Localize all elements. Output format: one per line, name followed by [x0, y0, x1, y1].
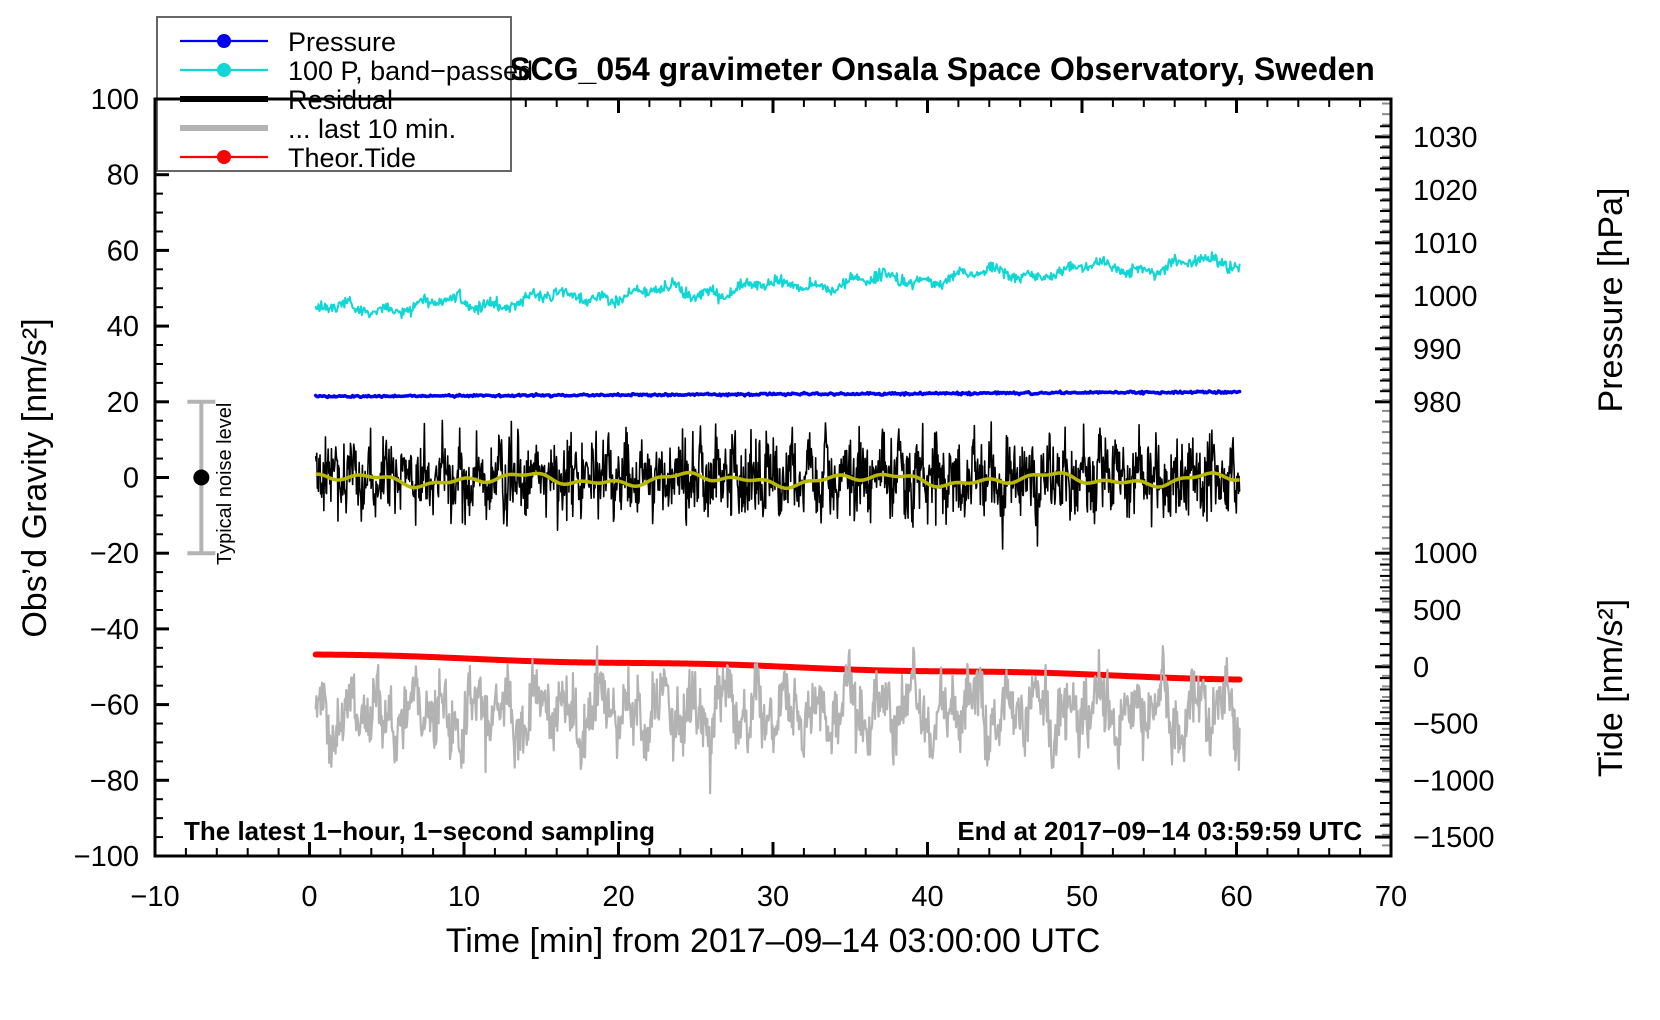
- chart-figure: SCG_054 gravimeter Onsala Space Observat…: [0, 0, 1660, 1020]
- legend-label-4: Theor.Tide: [288, 143, 416, 173]
- x-tick-label: 10: [448, 881, 480, 913]
- x-tick-label: 20: [602, 881, 634, 913]
- x-tick-label: 0: [301, 881, 317, 913]
- legend-label-3: ... last 10 min.: [288, 114, 456, 144]
- x-tick-label: 30: [757, 881, 789, 913]
- y-tick-label: 100: [91, 84, 139, 116]
- right-tide-tick-label: 1000: [1413, 538, 1478, 570]
- gravimeter-plot-svg: SCG_054 gravimeter Onsala Space Observat…: [0, 0, 1660, 1020]
- y-tick-label: −100: [74, 841, 139, 873]
- y-tick-label: 80: [107, 160, 139, 192]
- y-tick-label: 0: [123, 463, 139, 495]
- right-tide-tick-label: 500: [1413, 595, 1461, 627]
- y-tick-label: 20: [107, 387, 139, 419]
- bottom-left-note: The latest 1−hour, 1−second sampling: [184, 816, 655, 846]
- right-tide-tick-label: −1500: [1413, 822, 1494, 854]
- legend: Pressure100 P, band−passedResidual... la…: [157, 17, 533, 173]
- x-tick-label: 40: [911, 881, 943, 913]
- right-pressure-tick-label: 1000: [1413, 281, 1478, 313]
- x-tick-label: 60: [1220, 881, 1252, 913]
- x-tick-label: 70: [1375, 881, 1407, 913]
- y-tick-label: −80: [90, 765, 139, 797]
- legend-label-0: Pressure: [288, 27, 396, 57]
- bottom-right-note: End at 2017−09−14 03:59:59 UTC: [957, 816, 1362, 846]
- legend-label-1: 100 P, band−passed: [288, 56, 533, 86]
- y-tick-label: 40: [107, 311, 139, 343]
- noise-bar-point: [193, 470, 209, 486]
- x-tick-label: 50: [1066, 881, 1098, 913]
- x-tick-label: −10: [130, 881, 179, 913]
- noise-level-label: Typical noise level: [214, 403, 236, 565]
- y-tick-label: 60: [107, 235, 139, 267]
- right-pressure-tick-label: 990: [1413, 334, 1461, 366]
- y-tick-label: −40: [90, 614, 139, 646]
- legend-marker-0: [217, 34, 231, 48]
- legend-marker-1: [217, 63, 231, 77]
- y-axis-title: Obs’d Gravity [nm/s²]: [16, 318, 54, 637]
- x-axis-title: Time [min] from 2017–09–14 03:00:00 UTC: [446, 922, 1101, 960]
- right-tide-tick-label: 0: [1413, 652, 1429, 684]
- chart-title: SCG_054 gravimeter Onsala Space Observat…: [509, 51, 1375, 87]
- right-pressure-tick-label: 1020: [1413, 175, 1478, 207]
- y-tick-label: −20: [90, 538, 139, 570]
- right-pressure-tick-label: 1010: [1413, 228, 1478, 260]
- right-pressure-tick-label: 1030: [1413, 122, 1478, 154]
- right-pressure-axis-title: Pressure [hPa]: [1592, 188, 1630, 413]
- right-tide-tick-label: −1000: [1413, 765, 1494, 797]
- legend-marker-4: [217, 150, 231, 164]
- right-tide-tick-label: −500: [1413, 709, 1478, 741]
- right-pressure-tick-label: 980: [1413, 387, 1461, 419]
- right-tide-axis-title: Tide [nm/s²]: [1592, 599, 1630, 777]
- y-tick-label: −60: [90, 690, 139, 722]
